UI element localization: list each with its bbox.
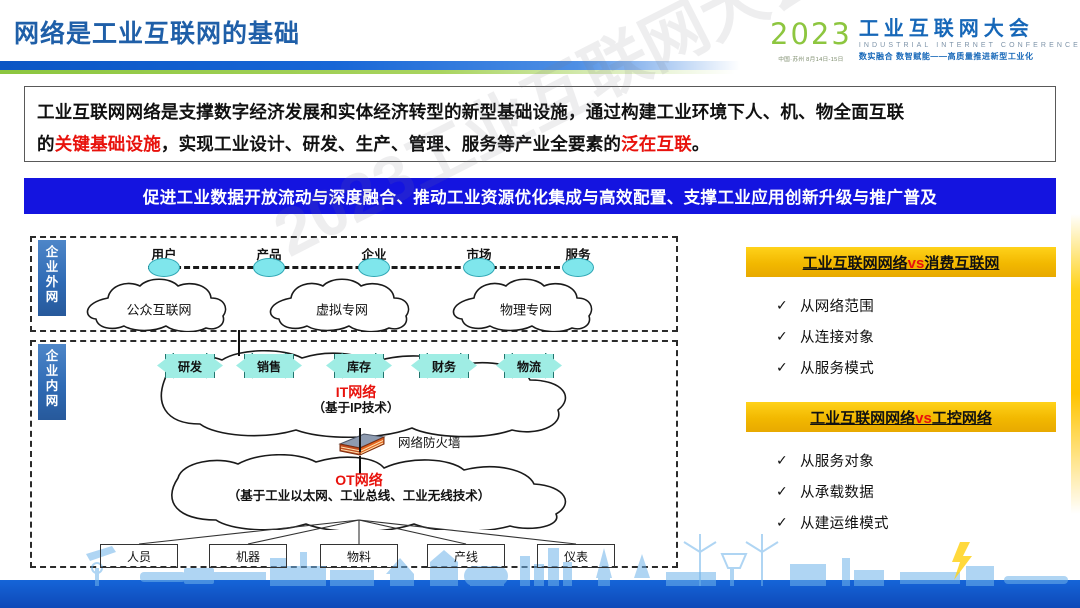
check-icon: ✓ (776, 514, 800, 531)
statement-highlight-2: 泛在互联 (621, 134, 692, 154)
logo-year: 2023 (770, 20, 852, 49)
ot-element-2: 物料 (320, 544, 398, 568)
check-icon: ✓ (776, 359, 800, 376)
highlight-banner-text: 促进工业数据开放流动与深度融合、推动工业资源优化集成与高效配置、支撑工业应用创新… (143, 184, 937, 208)
logo-name-en: INDUSTRIAL INTERNET CONFERENCE (859, 42, 1080, 49)
internal-node-4: 物流 (504, 354, 554, 378)
ot-element-1: 机器 (209, 544, 287, 568)
statement-highlight-1: 关键基础设施 (55, 134, 161, 154)
statement-line-2: 的关键基础设施，实现工业设计、研发、生产、管理、服务等产业全要素的泛在互联。 (37, 128, 1043, 160)
statement-line-2-b: ，实现工业设计、研发、生产、管理、服务等产业全要素的 (161, 134, 621, 154)
external-cloud-label-2: 物理专网 (500, 300, 552, 319)
comparison-list-1: ✓从服务对象 ✓从承载数据 ✓从建运维模式 (776, 445, 1056, 538)
header-accent-bar-green (0, 70, 735, 74)
list-item: ✓从服务对象 (776, 445, 1056, 476)
page-title: 网络是工业互联网的基础 (14, 14, 300, 50)
zone-label-internal: 企 业 内 网 (38, 344, 66, 420)
check-icon: ✓ (776, 483, 800, 500)
comparison-title-1: 工业互联网网络vs工控网络 (746, 402, 1056, 432)
comparison-title-0: 工业互联网网络vs消费互联网 (746, 247, 1056, 277)
statement-line-1: 工业互联网网络是支撑数字经济发展和实体经济转型的新型基础设施，通过构建工业环境下… (37, 96, 1043, 128)
comparison-title-0-text: 工业互联网网络vs消费互联网 (803, 252, 1000, 273)
internal-node-label-3: 财务 (432, 358, 456, 375)
logo-name-block: 工业互联网大会 INDUSTRIAL INTERNET CONFERENCE 数… (859, 18, 1080, 62)
zone-label-external: 企 业 外 网 (38, 240, 66, 316)
ot-element-label-4: 仪表 (564, 548, 588, 565)
check-icon: ✓ (776, 297, 800, 314)
statement-line-2-a: 的 (37, 134, 55, 154)
ot-element-label-0: 人员 (127, 548, 151, 565)
internal-node-0: 研发 (165, 354, 215, 378)
ot-network-name: OT网络 (228, 472, 491, 488)
internal-node-1: 销售 (244, 354, 294, 378)
statement-line-1-text: 工业互联网网络是支撑数字经济发展和实体经济转型的新型基础设施，通过构建工业环境下… (37, 102, 904, 122)
statement-line-2-c: 。 (692, 134, 710, 154)
list-item: ✓从建运维模式 (776, 507, 1056, 538)
internal-node-label-1: 销售 (257, 358, 281, 375)
ot-element-label-2: 物料 (347, 548, 371, 565)
internal-node-3: 财务 (419, 354, 469, 378)
ot-element-3: 产线 (427, 544, 505, 568)
internal-node-2: 库存 (334, 354, 384, 378)
ot-element-label-1: 机器 (236, 548, 260, 565)
external-cloud-label-1: 虚拟专网 (316, 300, 368, 319)
comparison-0-item-0: 从网络范围 (800, 295, 874, 316)
ot-element-0: 人员 (100, 544, 178, 568)
logo-name-cn: 工业互联网大会 (859, 19, 1080, 40)
right-yellow-accent (1071, 214, 1080, 514)
list-item: ✓从连接对象 (776, 321, 1056, 352)
it-network-desc: （基于IP技术） (313, 400, 400, 416)
header-accent-bar (0, 61, 740, 70)
check-icon: ✓ (776, 328, 800, 345)
comparison-0-b: 消费互联网 (924, 255, 999, 272)
check-icon: ✓ (776, 452, 800, 469)
statement-box: 工业互联网网络是支撑数字经济发展和实体经济转型的新型基础设施，通过构建工业环境下… (24, 86, 1056, 162)
ot-network-desc: （基于工业以太网、工业总线、工业无线技术） (228, 488, 491, 504)
conference-logo: 2023 中国·苏州 8月14日-15日 工业互联网大会 INDUSTRIAL … (770, 18, 1070, 73)
comparison-1-vs: vs (915, 410, 932, 427)
comparison-1-item-1: 从承载数据 (800, 481, 874, 502)
comparison-1-b: 工控网络 (932, 410, 992, 427)
highlight-banner: 促进工业数据开放流动与深度融合、推动工业资源优化集成与高效配置、支撑工业应用创新… (24, 178, 1056, 214)
logo-year-subtitle: 中国·苏州 8月14日-15日 (772, 54, 850, 63)
comparison-1-item-0: 从服务对象 (800, 450, 874, 471)
logo-year-block: 2023 中国·苏州 8月14日-15日 (770, 18, 852, 63)
it-network-name: IT网络 (313, 384, 400, 400)
network-architecture-diagram: 企 业 外 网 企 业 内 网 用户 产品 企业 市场 服务 (26, 232, 686, 572)
list-item: ✓从承载数据 (776, 476, 1056, 507)
logo-tagline: 数实融合 数智赋能——高质量推进新型工业化 (859, 51, 1080, 62)
ot-element-4: 仪表 (537, 544, 615, 568)
zone-connector-line (238, 330, 240, 356)
internal-node-label-4: 物流 (517, 358, 541, 375)
comparison-list-0: ✓从网络范围 ✓从连接对象 ✓从服务模式 (776, 290, 1056, 383)
it-network-label: IT网络 （基于IP技术） (313, 384, 400, 416)
it-to-firewall-line (359, 428, 361, 452)
ot-network-label: OT网络 （基于工业以太网、工业总线、工业无线技术） (228, 472, 491, 504)
list-item: ✓从服务模式 (776, 352, 1056, 383)
comparison-1-a: 工业互联网网络 (810, 410, 915, 427)
external-cloud-label-0: 公众互联网 (126, 300, 191, 319)
comparison-0-a: 工业互联网网络 (803, 255, 908, 272)
comparison-title-1-text: 工业互联网网络vs工控网络 (810, 407, 992, 428)
comparison-0-item-2: 从服务模式 (800, 357, 874, 378)
firewall-label: 网络防火墙 (398, 432, 461, 451)
ot-element-label-3: 产线 (454, 548, 478, 565)
slide-canvas: 网络是工业互联网的基础 2023 中国·苏州 8月14日-15日 工业互联网大会… (0, 0, 1080, 608)
footer-band (0, 580, 1080, 608)
comparison-1-item-2: 从建运维模式 (800, 512, 889, 533)
internal-node-label-0: 研发 (178, 358, 202, 375)
comparison-0-vs: vs (908, 255, 925, 272)
comparison-0-item-1: 从连接对象 (800, 326, 874, 347)
list-item: ✓从网络范围 (776, 290, 1056, 321)
internal-node-label-2: 库存 (347, 358, 371, 375)
